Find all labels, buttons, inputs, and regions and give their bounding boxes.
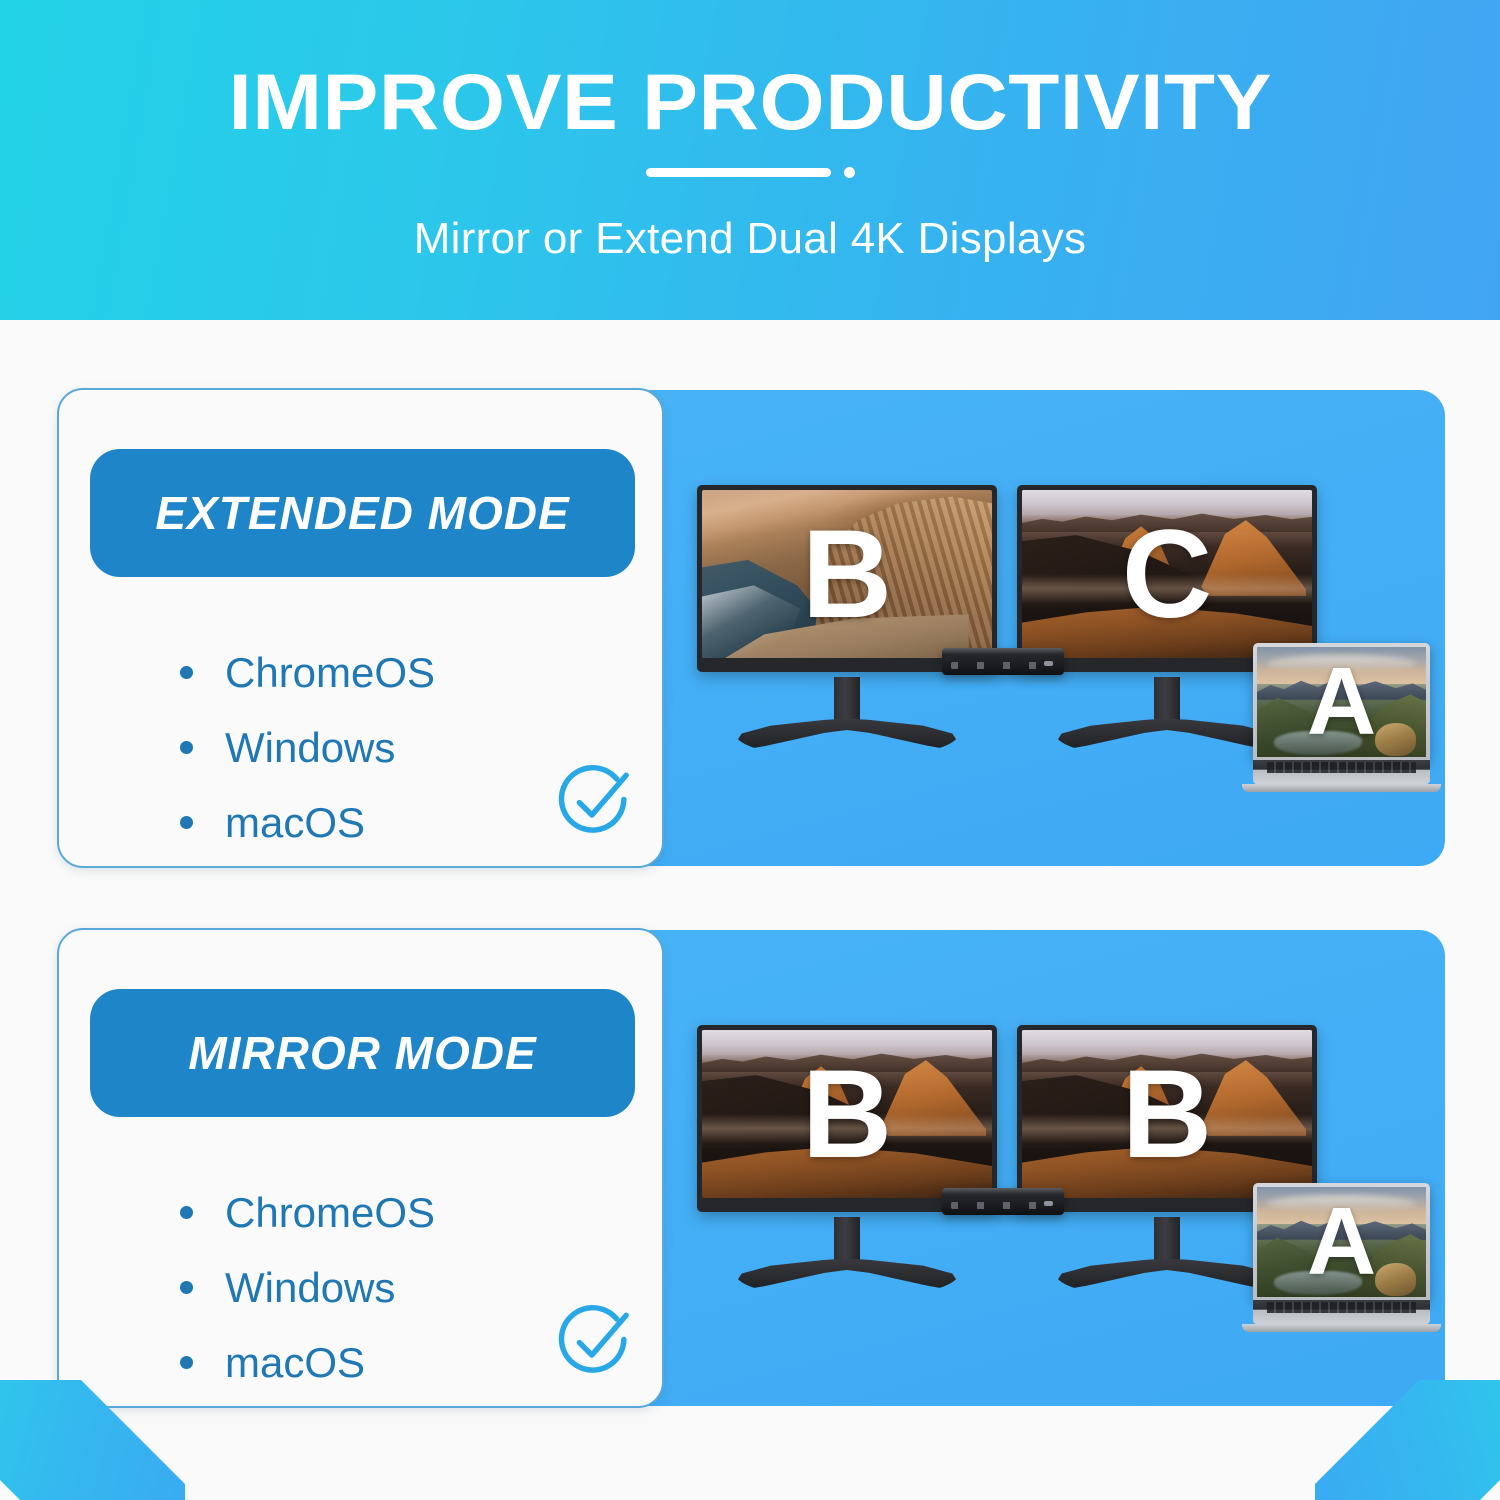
laptop-a-2-keyboard-deck xyxy=(1253,1300,1430,1324)
diagonal-accent-shape xyxy=(1315,1380,1500,1500)
monitor-b-right-label: B xyxy=(1022,1030,1312,1198)
extended-mode-badge[interactable]: EXTENDED MODE xyxy=(90,449,635,577)
divider-dot xyxy=(844,167,855,178)
bullet-icon xyxy=(180,816,193,829)
monitor-b-left: B xyxy=(697,1025,997,1212)
check-circle-icon xyxy=(556,1302,634,1380)
os-label: ChromeOS xyxy=(225,1189,435,1237)
corner-decoration-bottom-right xyxy=(1315,1380,1500,1500)
bullet-icon xyxy=(180,1356,193,1369)
mirror-mode-card: MIRROR MODE ChromeOS Windows macOS xyxy=(57,928,664,1408)
monitor-b-left-bezel: B xyxy=(697,1025,997,1212)
docking-station-2 xyxy=(942,1188,1064,1215)
laptop-a-label: A xyxy=(1257,647,1426,757)
laptop-a-2-label: A xyxy=(1257,1187,1426,1297)
monitor-b-left-screen: B xyxy=(702,1030,992,1198)
os-label: macOS xyxy=(225,799,365,847)
extended-mode-card: EXTENDED MODE ChromeOS Windows macOS xyxy=(57,388,664,868)
dock-highlight xyxy=(942,1188,1064,1194)
laptop-a-lid: A xyxy=(1253,643,1430,760)
header-divider xyxy=(646,167,855,178)
laptop-a-screen: A xyxy=(1257,647,1426,757)
monitor-b-left-label: B xyxy=(702,1030,992,1198)
monitor-c-neck xyxy=(1154,677,1180,723)
divider-bar xyxy=(646,168,831,177)
monitor-b-right-screen: B xyxy=(1022,1030,1312,1198)
dock-highlight xyxy=(942,648,1064,654)
dock-body xyxy=(942,648,1064,675)
laptop-a-2-screen: A xyxy=(1257,1187,1426,1297)
os-label: ChromeOS xyxy=(225,649,435,697)
laptop-a-2-keys xyxy=(1267,1302,1416,1313)
monitor-b-right-neck xyxy=(1154,1217,1180,1263)
laptop-a-keys xyxy=(1267,762,1416,773)
monitor-c-screen: C xyxy=(1022,490,1312,658)
bullet-icon xyxy=(180,1281,193,1294)
dock-led xyxy=(1044,661,1053,666)
monitor-b-left-neck xyxy=(834,1217,860,1263)
monitor-b: B xyxy=(697,485,997,672)
list-item: Windows xyxy=(180,710,435,785)
laptop-a-base xyxy=(1242,784,1440,792)
page-title: IMPROVE PRODUCTIVITY xyxy=(228,62,1272,143)
bullet-icon xyxy=(180,741,193,754)
monitor-b-right-base xyxy=(1055,1257,1279,1293)
mirror-mode-badge-label: MIRROR MODE xyxy=(188,1026,536,1080)
laptop-a-keyboard-deck xyxy=(1253,760,1430,784)
dock-ports xyxy=(951,662,1041,669)
dock-ports xyxy=(951,1202,1041,1209)
list-item: ChromeOS xyxy=(180,635,435,710)
monitor-b-bezel: B xyxy=(697,485,997,672)
bullet-icon xyxy=(180,666,193,679)
bullet-icon xyxy=(180,1206,193,1219)
monitor-b-label: B xyxy=(702,490,992,658)
corner-decoration-bottom-left xyxy=(0,1380,185,1500)
mirror-mode-badge[interactable]: MIRROR MODE xyxy=(90,989,635,1117)
os-label: Windows xyxy=(225,1264,395,1312)
laptop-a-2-lid: A xyxy=(1253,1183,1430,1300)
list-item: macOS xyxy=(180,1325,435,1400)
dock-led xyxy=(1044,1201,1053,1206)
monitor-b-neck xyxy=(834,677,860,723)
docking-station-1 xyxy=(942,648,1064,675)
monitor-c-base xyxy=(1055,717,1279,753)
dock-body xyxy=(942,1188,1064,1215)
list-item: Windows xyxy=(180,1250,435,1325)
laptop-a-2-base xyxy=(1242,1324,1440,1332)
list-item: macOS xyxy=(180,785,435,860)
os-label: Windows xyxy=(225,724,395,772)
laptop-a-2: A xyxy=(1253,1183,1430,1332)
extended-mode-badge-label: EXTENDED MODE xyxy=(155,486,569,540)
laptop-a: A xyxy=(1253,643,1430,792)
diagonal-accent-shape xyxy=(0,1380,185,1500)
extended-mode-os-list: ChromeOS Windows macOS xyxy=(180,635,435,860)
mirror-mode-os-list: ChromeOS Windows macOS xyxy=(180,1175,435,1400)
monitor-b-base xyxy=(735,717,959,753)
page-subtitle: Mirror or Extend Dual 4K Displays xyxy=(414,214,1087,264)
monitor-b-screen: B xyxy=(702,490,992,658)
check-circle-icon xyxy=(556,762,634,840)
list-item: ChromeOS xyxy=(180,1175,435,1250)
os-label: macOS xyxy=(225,1339,365,1387)
monitor-b-left-base xyxy=(735,1257,959,1293)
page-header: IMPROVE PRODUCTIVITY Mirror or Extend Du… xyxy=(0,0,1500,320)
monitor-c-label: C xyxy=(1022,490,1312,658)
